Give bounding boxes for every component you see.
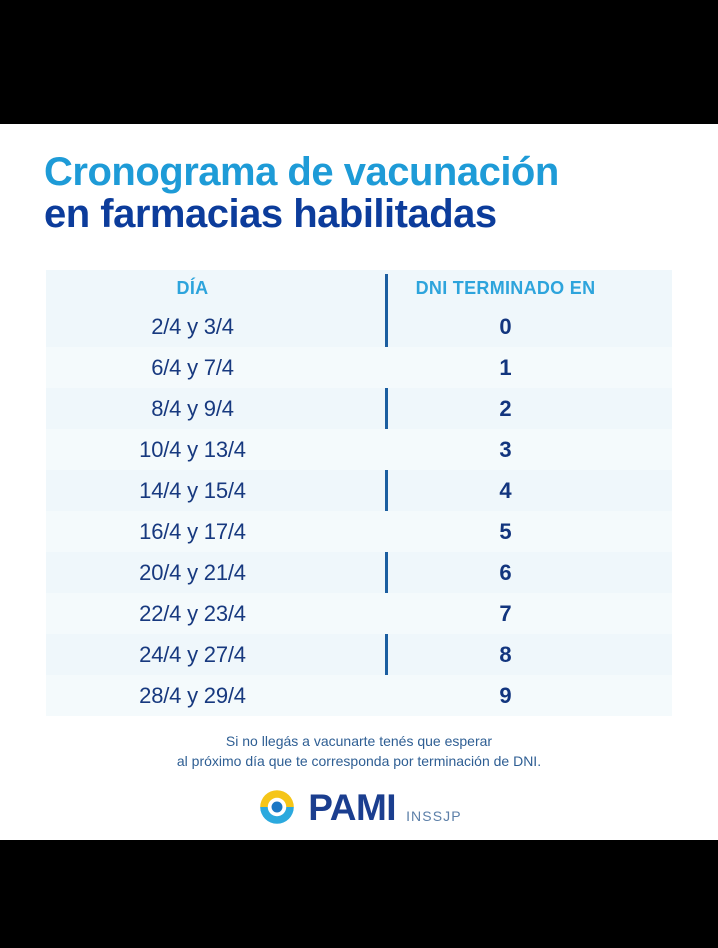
schedule-table: DÍA DNI TERMINADO EN 2/4 y 3/4 0 6/4 y 7… [46,270,672,716]
cell-day: 22/4 y 23/4 [46,601,339,627]
cell-dni: 7 [339,601,672,627]
letterbox-bar-top [0,0,718,124]
table-row: 8/4 y 9/4 2 [46,388,672,429]
title-line-1: Cronograma de vacunación [44,152,684,194]
cell-day: 24/4 y 27/4 [46,642,339,668]
table-row: 22/4 y 23/4 7 [46,593,672,634]
cell-dni: 9 [339,683,672,709]
title-line-2: en farmacias habilitadas [44,194,684,236]
cell-dni: 5 [339,519,672,545]
cell-dni: 2 [339,396,672,422]
poster-root: Cronograma de vacunación en farmacias ha… [0,0,718,948]
cell-day: 6/4 y 7/4 [46,355,339,381]
cell-day: 20/4 y 21/4 [46,560,339,586]
cell-dni: 4 [339,478,672,504]
cell-dni: 3 [339,437,672,463]
cell-dni: 6 [339,560,672,586]
table-row: 2/4 y 3/4 0 [46,306,672,347]
footnote: Si no llegás a vacunarte tenés que esper… [0,732,718,772]
table-row: 24/4 y 27/4 8 [46,634,672,675]
table-row: 28/4 y 29/4 9 [46,675,672,716]
cell-day: 28/4 y 29/4 [46,683,339,709]
cell-dni: 8 [339,642,672,668]
table-row: 14/4 y 15/4 4 [46,470,672,511]
pami-logo: PAMI INSSJP [0,786,718,828]
pami-wordmark: PAMI [308,789,396,826]
poster-canvas: Cronograma de vacunación en farmacias ha… [0,124,718,840]
page-title: Cronograma de vacunación en farmacias ha… [44,152,684,235]
cell-day: 10/4 y 13/4 [46,437,339,463]
cell-dni: 1 [339,355,672,381]
pami-subtitle: INSSJP [406,808,462,828]
footnote-line-2: al próximo día que te corresponda por te… [0,752,718,772]
table-row: 10/4 y 13/4 3 [46,429,672,470]
letterbox-bar-bottom [0,840,718,948]
cell-day: 14/4 y 15/4 [46,478,339,504]
table-header-row: DÍA DNI TERMINADO EN [46,270,672,306]
table-row: 6/4 y 7/4 1 [46,347,672,388]
table-row: 20/4 y 21/4 6 [46,552,672,593]
cell-day: 16/4 y 17/4 [46,519,339,545]
table-row: 16/4 y 17/4 5 [46,511,672,552]
footnote-line-1: Si no llegás a vacunarte tenés que esper… [0,732,718,752]
column-header-dni: DNI TERMINADO EN [339,278,672,299]
cell-dni: 0 [339,314,672,340]
column-header-day: DÍA [46,278,339,299]
pami-ring-icon [256,786,298,828]
cell-day: 8/4 y 9/4 [46,396,339,422]
cell-day: 2/4 y 3/4 [46,314,339,340]
